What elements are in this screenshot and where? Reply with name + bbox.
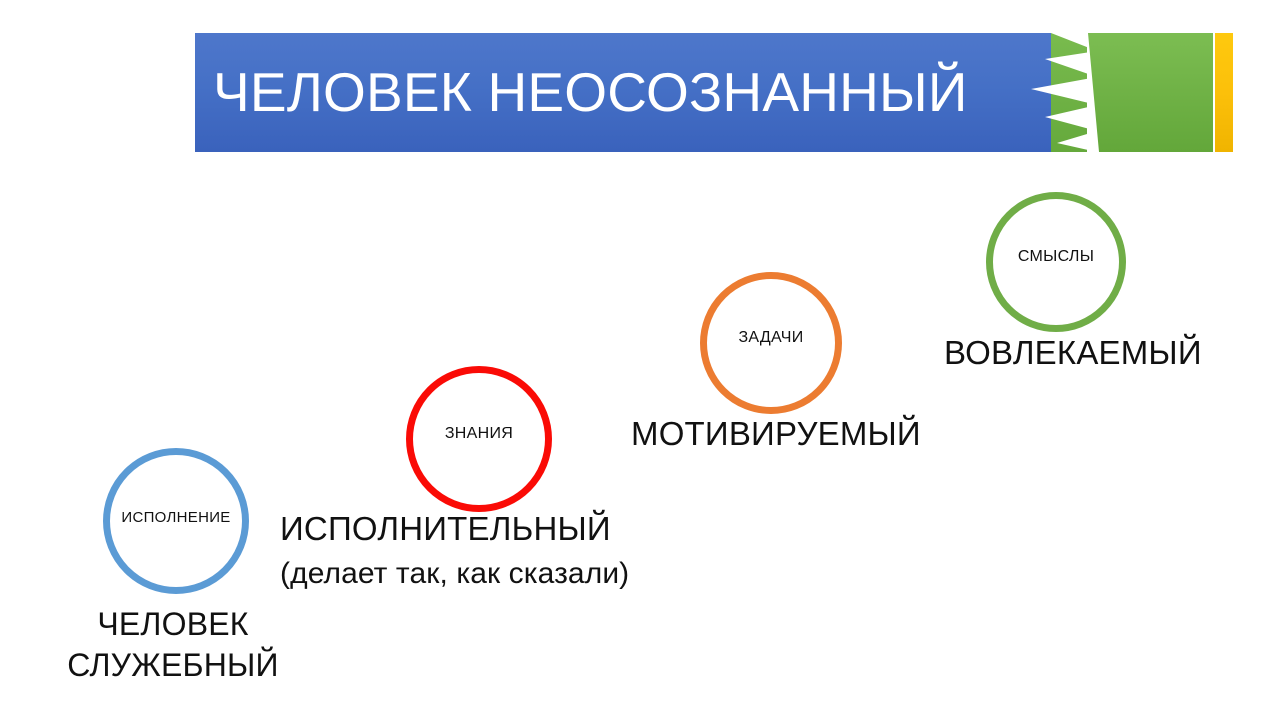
stage-circle-zadachi[interactable]: ЗАДАЧИ	[700, 272, 842, 414]
stage-circle-label: СМЫСЛЫ	[993, 248, 1119, 266]
banner-green-trapezoid	[1088, 33, 1213, 152]
stage-label-vovlekaemy: ВОВЛЕКАЕМЫЙ	[944, 333, 1202, 373]
stage-circle-ispolnenie[interactable]: ИСПОЛНЕНИЕ	[103, 448, 249, 594]
stage-label-sluzhebny: ЧЕЛОВЕК СЛУЖЕБНЫЙ	[48, 604, 298, 686]
stage-title-line1: ЧЕЛОВЕК	[48, 604, 298, 645]
stage-circle-label: ИСПОЛНЕНИЕ	[110, 509, 242, 526]
slide-canvas: ЧЕЛОВЕК НЕОСОЗНАННЫЙ ИСПОЛНЕНИЕ ЧЕЛОВЕК …	[0, 0, 1280, 720]
stage-title: ВОВЛЕКАЕМЫЙ	[944, 333, 1202, 373]
stage-title-line2: СЛУЖЕБНЫЙ	[48, 645, 298, 686]
stage-circle-znaniya[interactable]: ЗНАНИЯ	[406, 366, 552, 512]
title-banner: ЧЕЛОВЕК НЕОСОЗНАННЫЙ	[195, 33, 1233, 152]
stage-circle-smysly[interactable]: СМЫСЛЫ	[986, 192, 1126, 332]
banner-green-strip	[1051, 33, 1087, 152]
stage-label-ispolnitelny: ИСПОЛНИТЕЛЬНЫЙ (делает так, как сказали)	[280, 509, 629, 592]
slide-title: ЧЕЛОВЕК НЕОСОЗНАННЫЙ	[213, 64, 968, 122]
stage-subtitle: (делает так, как сказали)	[280, 555, 629, 593]
banner-yellow-bar	[1215, 33, 1233, 152]
stage-title: МОТИВИРУЕМЫЙ	[631, 414, 921, 454]
stage-circle-label: ЗНАНИЯ	[413, 425, 545, 443]
stage-label-motiviruemy: МОТИВИРУЕМЫЙ	[631, 414, 921, 454]
stage-circle-label: ЗАДАЧИ	[707, 329, 835, 347]
stage-title: ИСПОЛНИТЕЛЬНЫЙ	[280, 509, 629, 549]
